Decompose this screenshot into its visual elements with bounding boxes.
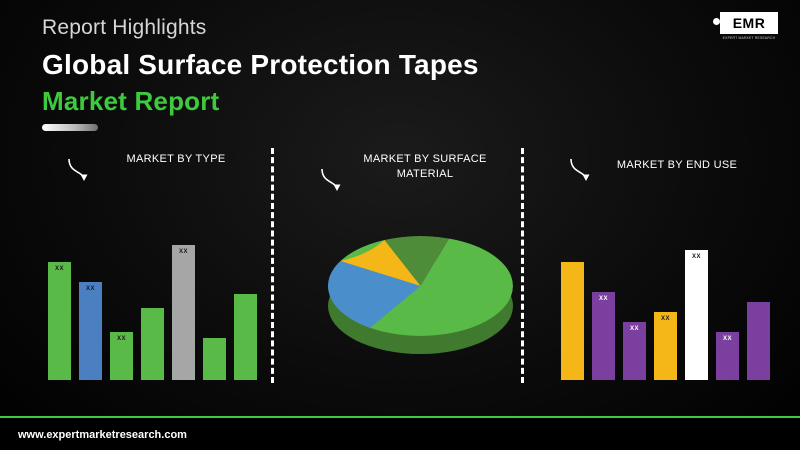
emr-logo: EMR EXPERT MARKET RESEARCH (708, 12, 778, 52)
footer: www.expertmarketresearch.com (0, 418, 800, 450)
bar-2: XX (79, 282, 102, 380)
bar-label-e3: XX (630, 326, 639, 332)
bar-5: XX (172, 245, 195, 380)
bar-e7 (747, 302, 770, 380)
bar-label-e4: XX (661, 316, 670, 322)
footer-website[interactable]: www.expertmarketresearch.com (18, 429, 187, 441)
bar-e1 (561, 262, 584, 380)
panel-title-1: MARKET BY TYPE (96, 152, 256, 167)
bar-e3: XX (623, 322, 646, 380)
panel-title-2: MARKET BY SURFACE MATERIAL (330, 152, 520, 182)
bar-e4: XX (654, 312, 677, 380)
eyebrow-text: Report Highlights (42, 16, 206, 40)
divider-left (271, 148, 274, 383)
bar-label-5: XX (179, 249, 188, 255)
bar-1: XX (48, 262, 71, 380)
pie-chart-surface-material (328, 236, 513, 366)
page-subtitle: Market Report (42, 86, 219, 117)
page-title: Global Surface Protection Tapes (42, 49, 479, 81)
divider-right (521, 148, 524, 383)
bar-e6: XX (716, 332, 739, 380)
title-underline (42, 124, 98, 131)
bar-chart-end-use: XX XX XX XX XX (561, 180, 771, 380)
bar-7 (234, 294, 257, 380)
slide-canvas: Report Highlights Global Surface Protect… (0, 0, 800, 450)
bar-e5: XX (685, 250, 708, 380)
logo-tagline: EXPERT MARKET RESEARCH (720, 36, 778, 40)
bar-label-e6: XX (723, 336, 732, 342)
logo-dot-icon (713, 18, 720, 25)
bar-label-e5: XX (692, 254, 701, 260)
panel-title-3: MARKET BY END USE (597, 158, 757, 173)
bar-label-1: XX (55, 266, 64, 272)
bar-e2: XX (592, 292, 615, 380)
bar-4 (141, 308, 164, 380)
bar-3: XX (110, 332, 133, 380)
bar-chart-type: XX XX XX XX (48, 180, 258, 380)
logo-box: EMR (720, 12, 778, 34)
bar-label-e2: XX (599, 296, 608, 302)
bar-6 (203, 338, 226, 380)
logo-text: EMR (733, 15, 766, 31)
pie-top-face (328, 236, 513, 336)
bar-label-3: XX (117, 336, 126, 342)
bar-label-2: XX (86, 286, 95, 292)
